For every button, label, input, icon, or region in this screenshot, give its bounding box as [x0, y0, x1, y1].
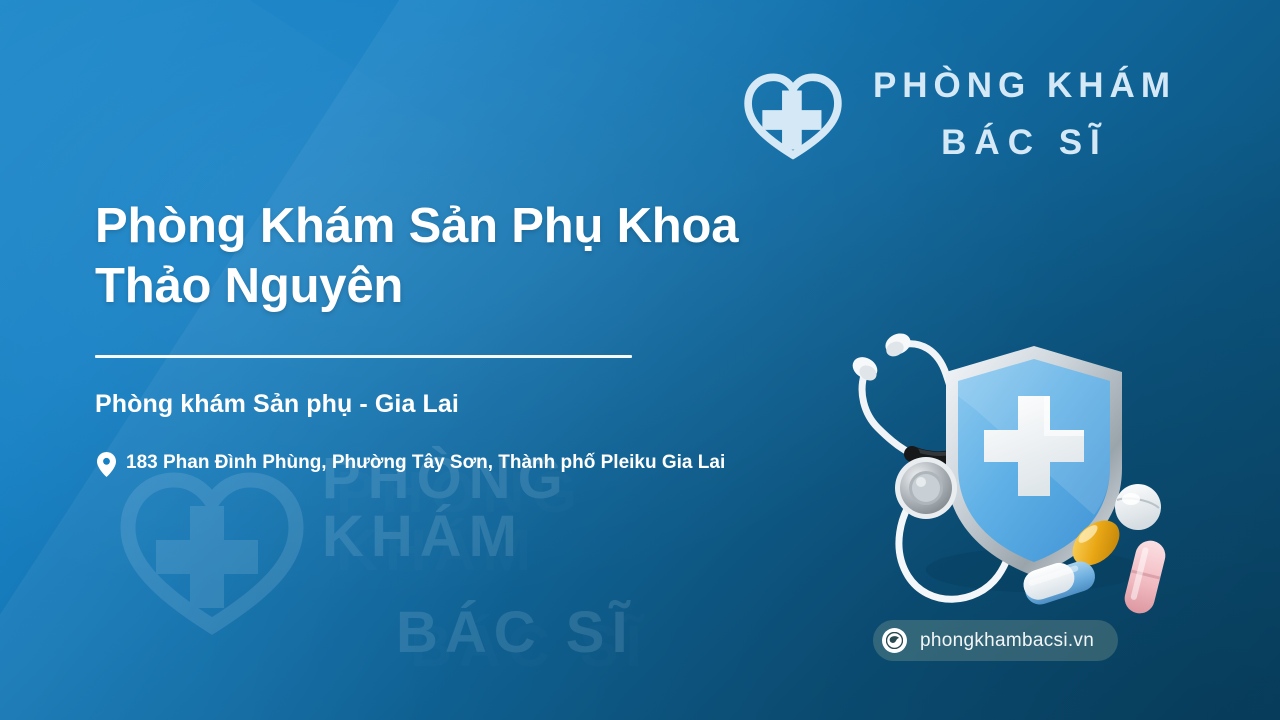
website-badge[interactable]: phongkhambacsi.vn: [873, 620, 1118, 661]
brand-logo: PHÒNG KHÁM BÁC SĨ: [737, 62, 1176, 166]
main-content: Phòng Khám Sản Phụ Khoa Thảo Nguyên Phòn…: [95, 196, 865, 477]
website-url: phongkhambacsi.vn: [920, 630, 1094, 652]
page-subtitle: Phòng khám Sản phụ - Gia Lai: [95, 390, 865, 419]
stethoscope-chestpiece: [895, 457, 957, 519]
address-block: 183 Phan Đình Phùng, Phường Tây Sơn, Thà…: [97, 449, 865, 477]
stethoscope-eartips: [849, 330, 914, 384]
globe-icon: [882, 628, 907, 653]
location-pin-icon: [97, 452, 116, 477]
address-text: 183 Phan Đình Phùng, Phường Tây Sơn, Thà…: [126, 449, 725, 477]
brand-line-1: PHÒNG KHÁM: [873, 68, 1176, 103]
brand-text: PHÒNG KHÁM BÁC SĨ: [873, 68, 1176, 160]
brand-line-2: BÁC SĨ: [873, 125, 1176, 160]
clinic-banner: PHÒNG KHÁM BÁC SĨ PHÒNG KHÁM BÁC SĨ Phòn…: [0, 0, 1280, 720]
round-tablet: [1115, 484, 1161, 530]
page-title: Phòng Khám Sản Phụ Khoa Thảo Nguyên: [95, 196, 865, 317]
stethoscope-shield-pills-illustration: [838, 318, 1190, 618]
heart-cross-medical-icon: [737, 62, 849, 166]
title-divider: [95, 355, 632, 358]
